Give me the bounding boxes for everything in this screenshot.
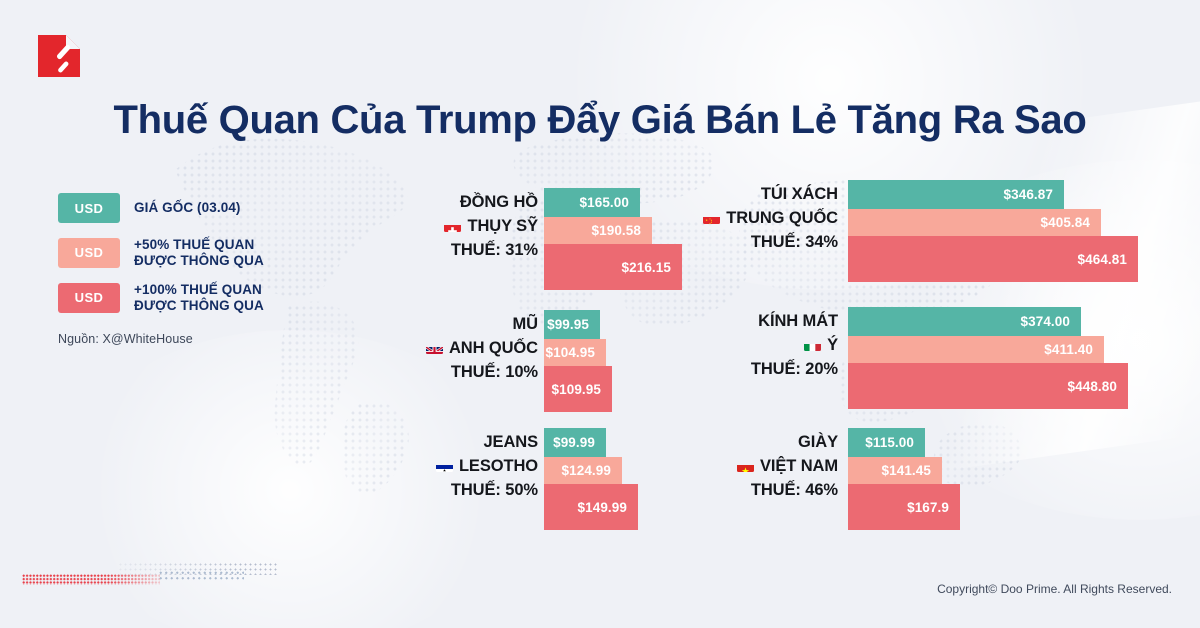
product-name: KÍNH MÁT xyxy=(608,309,838,333)
flag-china-icon xyxy=(703,212,720,224)
country-row: Ý xyxy=(608,333,838,357)
page-title: Thuế Quan Của Trump Đẩy Giá Bán Lẻ Tăng … xyxy=(0,95,1200,145)
bar-stack: $374.00$411.40$448.80 xyxy=(848,307,1128,409)
flag-lesotho-icon xyxy=(436,460,453,472)
bar-3: $448.80 xyxy=(848,363,1128,409)
bar-value-label: $124.99 xyxy=(562,463,612,478)
bar-3: $167.9 xyxy=(848,484,960,530)
country-row: ANH QUỐC xyxy=(308,336,538,360)
tariff-rate: THUẾ: 20% xyxy=(608,357,838,381)
legend-label-original-price: GIÁ GỐC (03.04) xyxy=(134,200,241,216)
source-note: Nguồn: X@WhiteHouse xyxy=(58,332,193,346)
bar-2: $104.95 xyxy=(544,339,606,366)
bar-value-label: $104.95 xyxy=(546,345,596,360)
bar-1: $99.95 xyxy=(544,310,600,339)
chart-group-label: TÚI XÁCHTRUNG QUỐCTHUẾ: 34% xyxy=(608,182,838,254)
bar-1: $115.00 xyxy=(848,428,925,457)
bar-value-label: $167.9 xyxy=(907,500,949,515)
legend-swatch-tariff-50: USD xyxy=(58,238,120,268)
bar-stack: $99.95$104.95$109.95 xyxy=(544,310,612,412)
chart-group-label: KÍNH MÁTÝTHUẾ: 20% xyxy=(608,309,838,381)
bar-value-label: $99.99 xyxy=(553,435,595,450)
bar-stack: $115.00$141.45$167.9 xyxy=(848,428,960,530)
legend-item: USD +100% THUẾ QUANĐƯỢC THÔNG QUA xyxy=(58,282,358,313)
bar-1: $374.00 xyxy=(848,307,1081,336)
bar-1: $99.99 xyxy=(544,428,606,457)
bar-value-label: $448.80 xyxy=(1068,379,1118,394)
country-name: TRUNG QUỐC xyxy=(726,206,838,230)
flag-vietnam-icon xyxy=(737,460,754,472)
chart-group-label: GIÀYVIỆT NAMTHUẾ: 46% xyxy=(608,430,838,502)
bar-value-label: $216.15 xyxy=(622,260,672,275)
flag-switzerland-icon xyxy=(444,220,461,232)
product-name: JEANS xyxy=(308,430,538,454)
country-row: LESOTHO xyxy=(308,454,538,478)
bar-2: $405.84 xyxy=(848,209,1101,236)
bar-value-label: $115.00 xyxy=(865,435,914,450)
bar-value-label: $109.95 xyxy=(552,382,602,397)
doo-prime-logo-icon xyxy=(36,33,82,79)
flag-united-kingdom-icon xyxy=(426,342,443,354)
product-name: ĐỒNG HỒ xyxy=(308,190,538,214)
country-row: VIỆT NAM xyxy=(608,454,838,478)
bar-value-label: $464.81 xyxy=(1078,252,1128,267)
product-name: TÚI XÁCH xyxy=(608,182,838,206)
bar-stack: $346.87$405.84$464.81 xyxy=(848,180,1138,282)
bar-value-label: $405.84 xyxy=(1041,215,1091,230)
bar-value-label: $374.00 xyxy=(1021,314,1071,329)
bar-2: $141.45 xyxy=(848,457,942,484)
country-name: LESOTHO xyxy=(459,454,538,478)
bar-value-label: $346.87 xyxy=(1004,187,1054,202)
chart-group-label: ĐỒNG HỒTHỤY SỸTHUẾ: 31% xyxy=(308,190,538,262)
product-name: GIÀY xyxy=(608,430,838,454)
country-name: VIỆT NAM xyxy=(760,454,838,478)
legend-label-tariff-100: +100% THUẾ QUANĐƯỢC THÔNG QUA xyxy=(134,282,264,313)
legend-swatch-original-price: USD xyxy=(58,193,120,223)
legend-label-tariff-50: +50% THUẾ QUANĐƯỢC THÔNG QUA xyxy=(134,237,264,268)
country-name: Ý xyxy=(827,333,838,357)
bar-3: $109.95 xyxy=(544,366,612,412)
chart-group-label: MŨANH QUỐCTHUẾ: 10% xyxy=(308,312,538,384)
bar-3: $464.81 xyxy=(848,236,1138,282)
bar-value-label: $411.40 xyxy=(1044,342,1093,357)
country-name: THỤY SỸ xyxy=(467,214,538,238)
copyright-notice: Copyright© Doo Prime. All Rights Reserve… xyxy=(937,582,1172,596)
bar-value-label: $99.95 xyxy=(547,317,589,332)
country-row: THỤY SỸ xyxy=(308,214,538,238)
tariff-rate: THUẾ: 31% xyxy=(308,238,538,262)
product-name: MŨ xyxy=(308,312,538,336)
bar-1: $346.87 xyxy=(848,180,1064,209)
country-row: TRUNG QUỐC xyxy=(608,206,838,230)
country-name: ANH QUỐC xyxy=(449,336,538,360)
flag-italy-icon xyxy=(804,339,821,351)
legend-swatch-tariff-100: USD xyxy=(58,283,120,313)
tariff-rate: THUẾ: 34% xyxy=(608,230,838,254)
bar-value-label: $141.45 xyxy=(882,463,932,478)
bar-2: $411.40 xyxy=(848,336,1104,363)
tariff-rate: THUẾ: 46% xyxy=(608,478,838,502)
tariff-rate: THUẾ: 10% xyxy=(308,360,538,384)
chart-group-label: JEANSLESOTHOTHUẾ: 50% xyxy=(308,430,538,502)
tariff-rate: THUẾ: 50% xyxy=(308,478,538,502)
